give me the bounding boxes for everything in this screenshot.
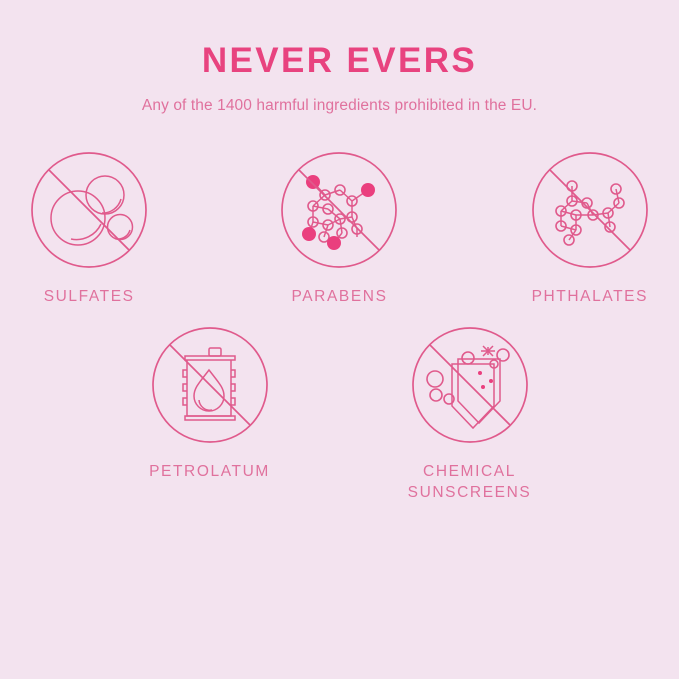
badge-phthalates: PHTHALATES: [501, 151, 679, 308]
badge-label: PETROLATUM: [149, 462, 270, 483]
badge-parabens: PARABENS: [250, 151, 428, 308]
badge-label: SULFATES: [44, 287, 135, 308]
badge-row-2: PETROLATUM: [0, 326, 679, 504]
badge-grid: SULFATES: [0, 151, 679, 504]
no-phthalates-molecule-icon: [531, 151, 649, 269]
page-subtitle: Any of the 1400 harmful ingredients proh…: [0, 97, 679, 116]
no-parabens-molecule-icon: [280, 151, 398, 269]
no-sulfates-bubbles-icon: [30, 151, 148, 269]
badge-petrolatum: PETROLATUM: [116, 326, 304, 483]
badge-label: CHEMICAL SUNSCREENS: [408, 462, 532, 504]
badge-label: PARABENS: [291, 287, 387, 308]
badge-row-1: SULFATES: [0, 151, 679, 308]
badge-sulfates: SULFATES: [0, 151, 178, 308]
header: NEVER EVERS Any of the 1400 harmful ingr…: [0, 0, 679, 115]
no-chemical-sunscreens-shield-icon: [411, 326, 529, 444]
page-title: NEVER EVERS: [0, 42, 679, 81]
never-evers-infographic: NEVER EVERS Any of the 1400 harmful ingr…: [0, 0, 679, 679]
badge-chemical-sunscreens: CHEMICAL SUNSCREENS: [376, 326, 564, 504]
no-petrolatum-barrel-icon: [151, 326, 269, 444]
badge-label: PHTHALATES: [532, 287, 649, 308]
